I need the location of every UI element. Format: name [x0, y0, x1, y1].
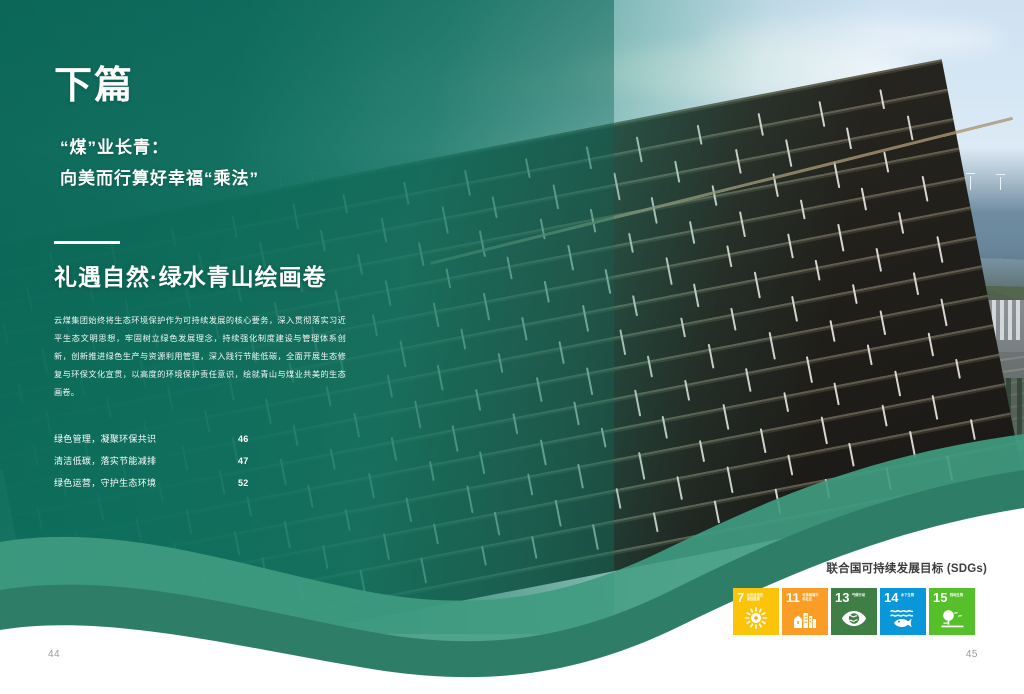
city-buildings-icon — [782, 604, 828, 635]
title-divider-rule — [54, 241, 120, 244]
sdg-tile-header: 15陆地生物 — [929, 588, 975, 604]
sdg-icon-row: 7经济适用的 清洁能源11可持续城市 和社区 13气候行动 14水下生物 15陆… — [733, 588, 993, 635]
toc-entry[interactable]: 绿色管理，凝聚环保共识46 — [54, 429, 264, 451]
climate-eye-icon — [831, 604, 877, 635]
sdg-block: 联合国可持续发展目标 (SDGs) 7经济适用的 清洁能源11可持续城市 和社区… — [733, 560, 993, 635]
toc-entry[interactable]: 绿色运营，守护生态环境52 — [54, 473, 264, 495]
sdg-tile-header: 13气候行动 — [831, 588, 877, 604]
page-number-right: 45 — [966, 649, 978, 660]
section-text-block: 下篇 “煤”业长青： 向美而行算好幸福“乘法” 礼遇自然·绿水青山绘画卷 云煤集… — [54, 66, 384, 495]
sdg-goal-name: 可持续城市 和社区 — [802, 591, 818, 601]
sun-icon — [733, 604, 779, 635]
sdg-heading: 联合国可持续发展目标 (SDGs) — [733, 560, 993, 576]
report-section-divider-spread: 下篇 “煤”业长青： 向美而行算好幸福“乘法” 礼遇自然·绿水青山绘画卷 云煤集… — [0, 0, 1024, 694]
sdg-goal-name: 经济适用的 清洁能源 — [747, 591, 763, 601]
section-intro-paragraph: 云煤集团始终将生态环境保护作为可持续发展的核心要务，深入贯彻落实习近平生态文明思… — [54, 312, 346, 403]
toc-entry-page: 47 — [238, 457, 264, 466]
sdg-goal-number: 15 — [933, 591, 947, 604]
toc-entry-label: 绿色运营，守护生态环境 — [54, 479, 156, 488]
chapter-subtitle: “煤”业长青： 向美而行算好幸福“乘法” — [60, 132, 384, 195]
toc-entry-page: 52 — [238, 479, 264, 488]
page-number-left: 44 — [48, 649, 60, 660]
tree-birds-icon — [929, 604, 975, 635]
sdg-goal-number: 14 — [884, 591, 898, 604]
chapter-subtitle-line-1: “煤”业长青： — [60, 132, 384, 163]
sdg-goal-number: 13 — [835, 591, 849, 604]
sdg-tile-11[interactable]: 11可持续城市 和社区 — [782, 588, 828, 635]
fish-waves-icon — [880, 604, 926, 635]
section-contents-list: 绿色管理，凝聚环保共识46清洁低碳，落实节能减排47绿色运营，守护生态环境52 — [54, 429, 264, 495]
toc-entry-page: 46 — [238, 435, 264, 444]
chapter-label: 下篇 — [54, 66, 384, 108]
sdg-goal-number: 11 — [786, 591, 800, 604]
sdg-tile-15[interactable]: 15陆地生物 — [929, 588, 975, 635]
sdg-tile-14[interactable]: 14水下生物 — [880, 588, 926, 635]
toc-entry-label: 清洁低碳，落实节能减排 — [54, 457, 156, 466]
sdg-tile-13[interactable]: 13气候行动 — [831, 588, 877, 635]
toc-entry[interactable]: 清洁低碳，落实节能减排47 — [54, 451, 264, 473]
section-title: 礼遇自然·绿水青山绘画卷 — [54, 258, 384, 292]
sdg-goal-name: 气候行动 — [852, 591, 865, 597]
sdg-tile-header: 11可持续城市 和社区 — [782, 588, 828, 604]
sdg-goal-name: 陆地生物 — [950, 591, 963, 597]
sdg-goal-name: 水下生物 — [901, 591, 914, 597]
chapter-subtitle-line-2: 向美而行算好幸福“乘法” — [60, 163, 384, 194]
toc-entry-label: 绿色管理，凝聚环保共识 — [54, 435, 156, 444]
sdg-goal-number: 7 — [737, 591, 744, 604]
sdg-tile-header: 7经济适用的 清洁能源 — [733, 588, 779, 604]
sdg-tile-7[interactable]: 7经济适用的 清洁能源 — [733, 588, 779, 635]
sdg-tile-header: 14水下生物 — [880, 588, 926, 604]
